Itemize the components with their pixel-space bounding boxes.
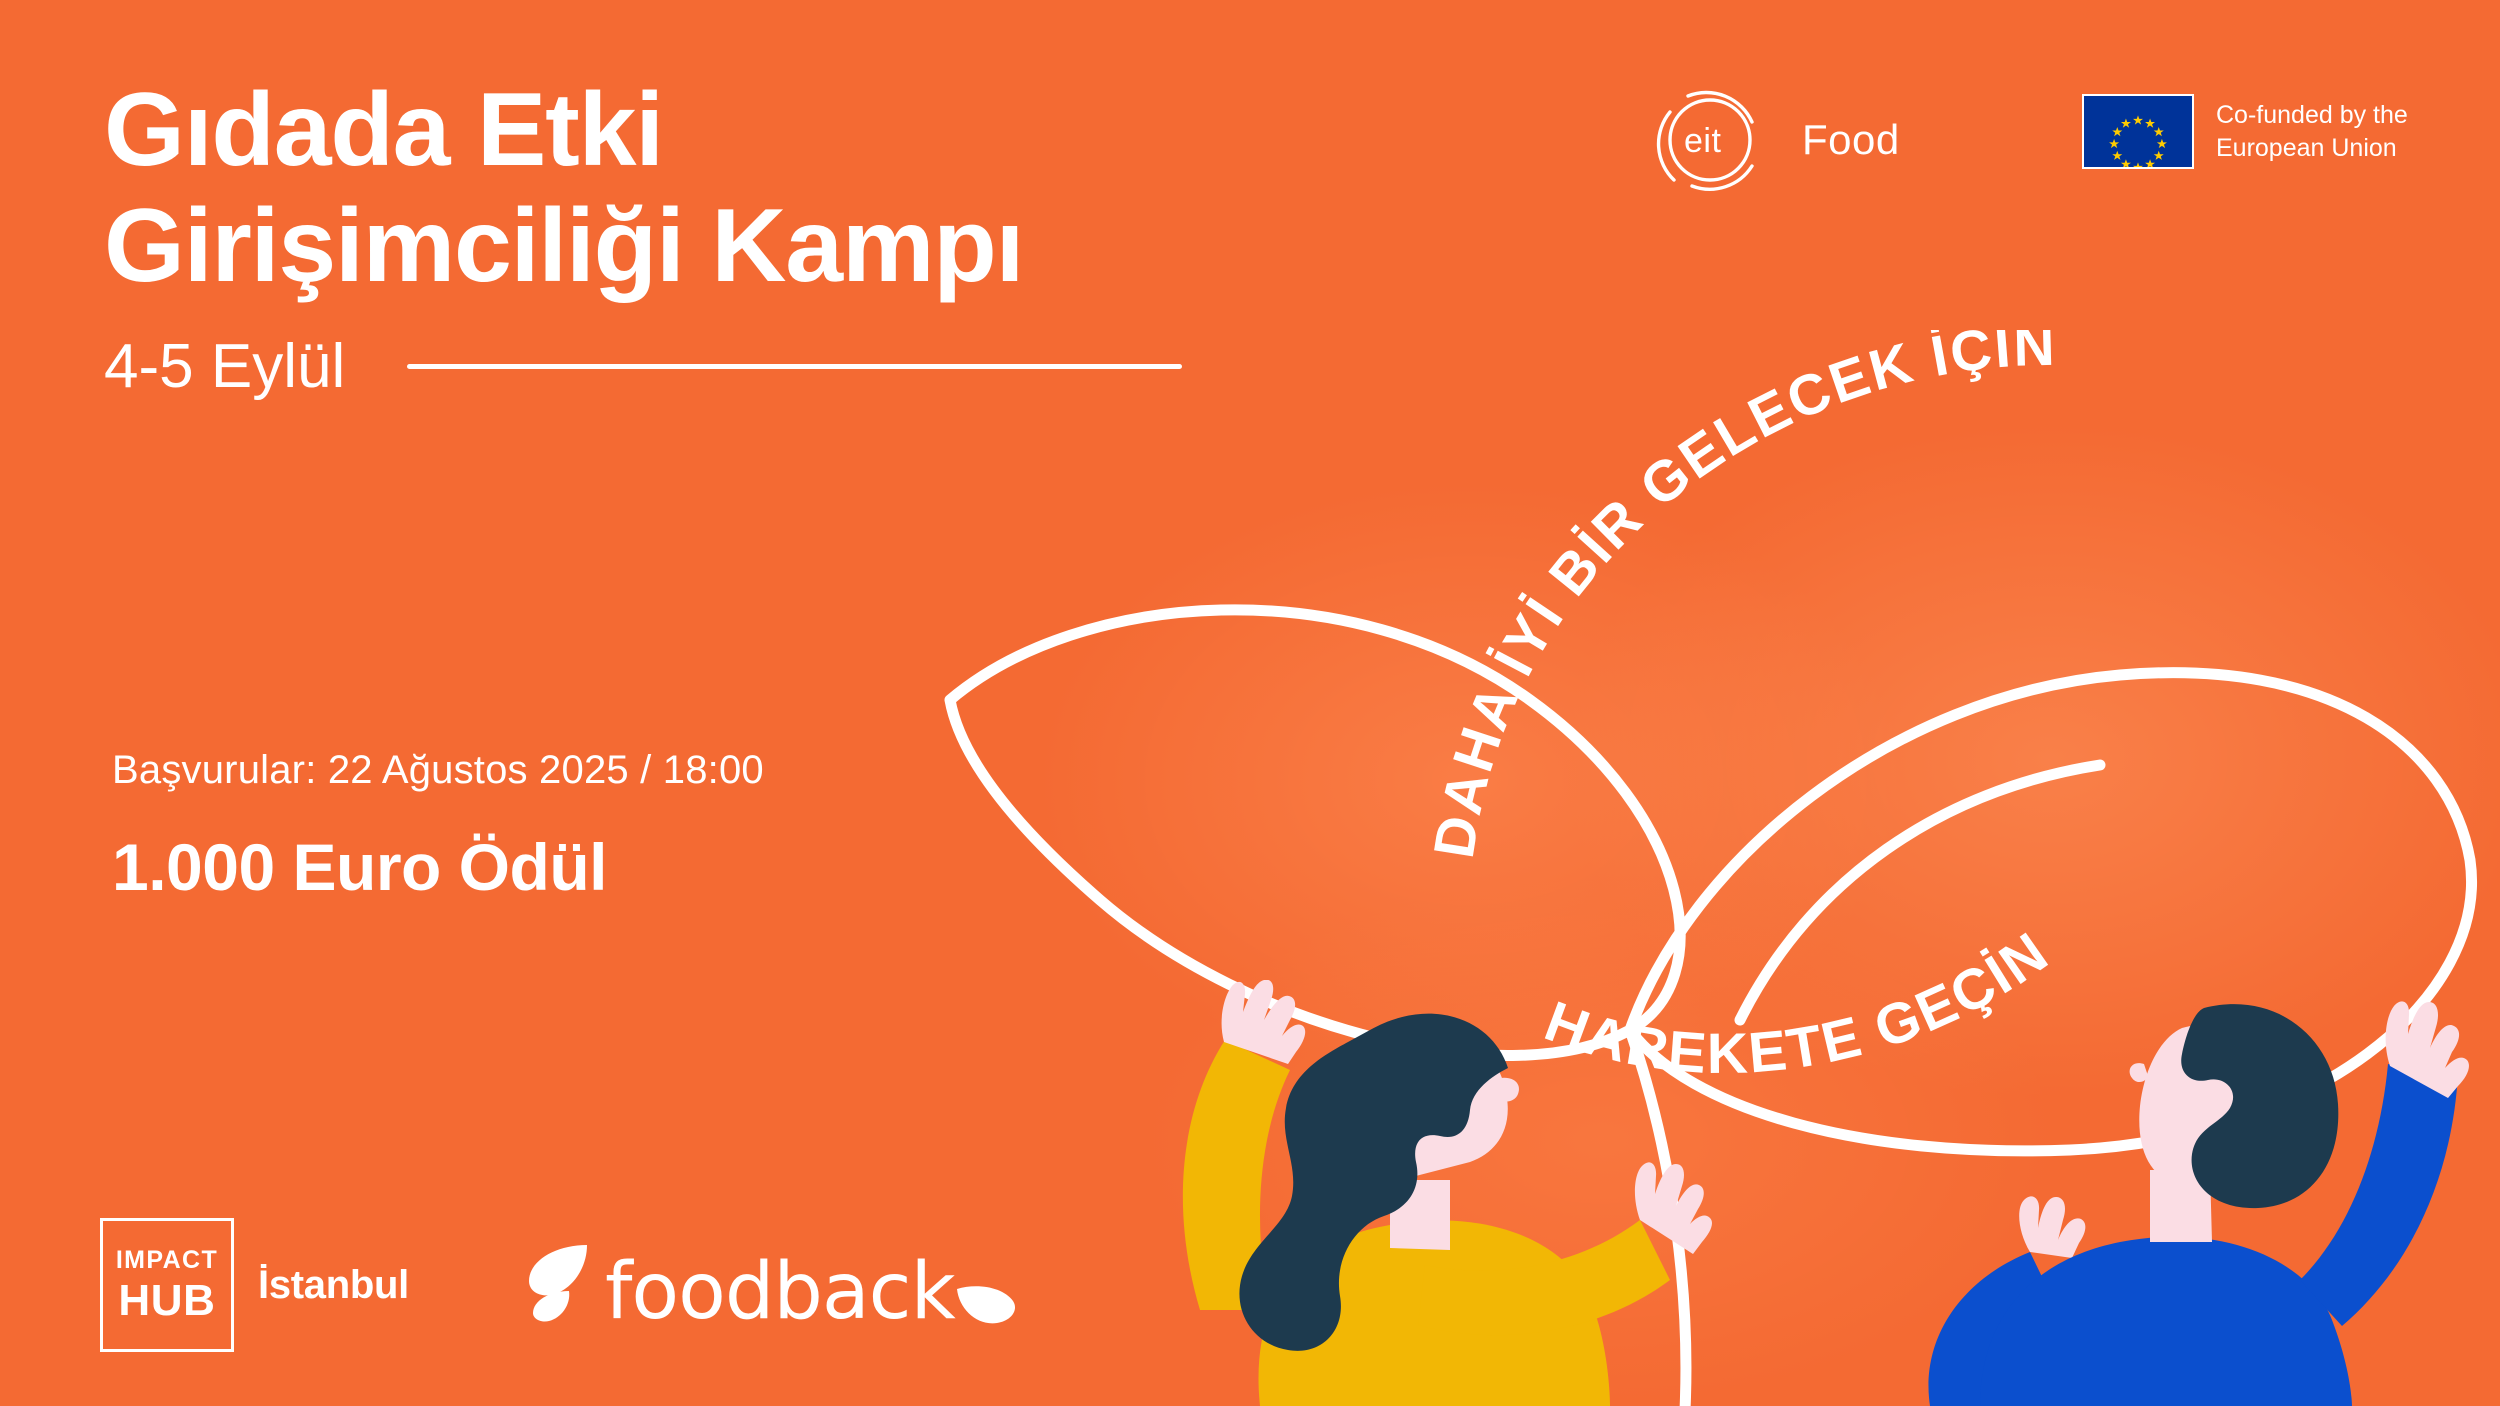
impact-hub-impact-word: IMPACT bbox=[116, 1248, 218, 1273]
impact-hub-hub-word: HUB bbox=[118, 1279, 215, 1323]
right-figure-left-hand bbox=[2019, 1196, 2085, 1258]
figure-right-blue bbox=[1928, 1001, 2469, 1406]
eu-funding-badge: Co-funded by the European Union bbox=[2082, 94, 2408, 169]
poster-canvas: DAHA İYİ BİR GELECEK İÇİN HAREKETE GEÇİN bbox=[0, 0, 2500, 1406]
date-row: 4-5 Eylül bbox=[104, 331, 1504, 402]
application-deadline: Başvurular: 22 Ağustos 2025 / 18:00 bbox=[112, 748, 1212, 793]
info-block: Başvurular: 22 Ağustos 2025 / 18:00 1.00… bbox=[112, 748, 1212, 905]
eu-funding-line-2: European Union bbox=[2216, 132, 2408, 165]
prize-amount: 1.000 Euro Ödül bbox=[112, 829, 1212, 905]
eit-mark-text: eit bbox=[1684, 122, 1721, 160]
eu-funding-text: Co-funded by the European Union bbox=[2216, 99, 2408, 165]
eu-funding-line-1: Co-funded by the bbox=[2216, 99, 2408, 132]
footer-logo-row: IMPACT HUB İstanbul foodback bbox=[100, 1218, 1017, 1352]
date-divider-rule bbox=[407, 364, 1182, 369]
event-date: 4-5 Eylül bbox=[104, 331, 345, 402]
people-illustration bbox=[1140, 980, 2500, 1406]
headline-line-2: Girişimciliği Kampı bbox=[104, 188, 1504, 304]
right-figure-nose bbox=[2130, 1063, 2148, 1082]
foodback-leaf-right-icon bbox=[955, 1279, 1017, 1331]
eit-ring-icon: eit bbox=[1648, 84, 1776, 196]
foodback-logo: foodback bbox=[525, 1239, 1017, 1331]
eu-stars bbox=[2084, 96, 2192, 167]
foodback-wordmark: foodback bbox=[605, 1253, 955, 1331]
eit-food-wordmark: Food bbox=[1802, 116, 1900, 164]
headline-line-1: Gıdada Etki bbox=[104, 72, 1504, 188]
right-figure-torso bbox=[1980, 1237, 2352, 1406]
headline-block: Gıdada Etki Girişimciliği Kampı 4-5 Eylü… bbox=[104, 72, 1504, 402]
left-figure-nose bbox=[1498, 1078, 1519, 1102]
eu-flag-icon bbox=[2082, 94, 2194, 169]
figure-left-yellow bbox=[1183, 980, 1712, 1406]
foodback-leaf-left-icon bbox=[525, 1239, 605, 1331]
eit-food-logo: eit Food bbox=[1648, 84, 1900, 196]
impact-hub-logo: IMPACT HUB İstanbul bbox=[100, 1218, 409, 1352]
impact-hub-mark: IMPACT HUB bbox=[100, 1218, 234, 1352]
impact-hub-city: İstanbul bbox=[258, 1263, 409, 1308]
